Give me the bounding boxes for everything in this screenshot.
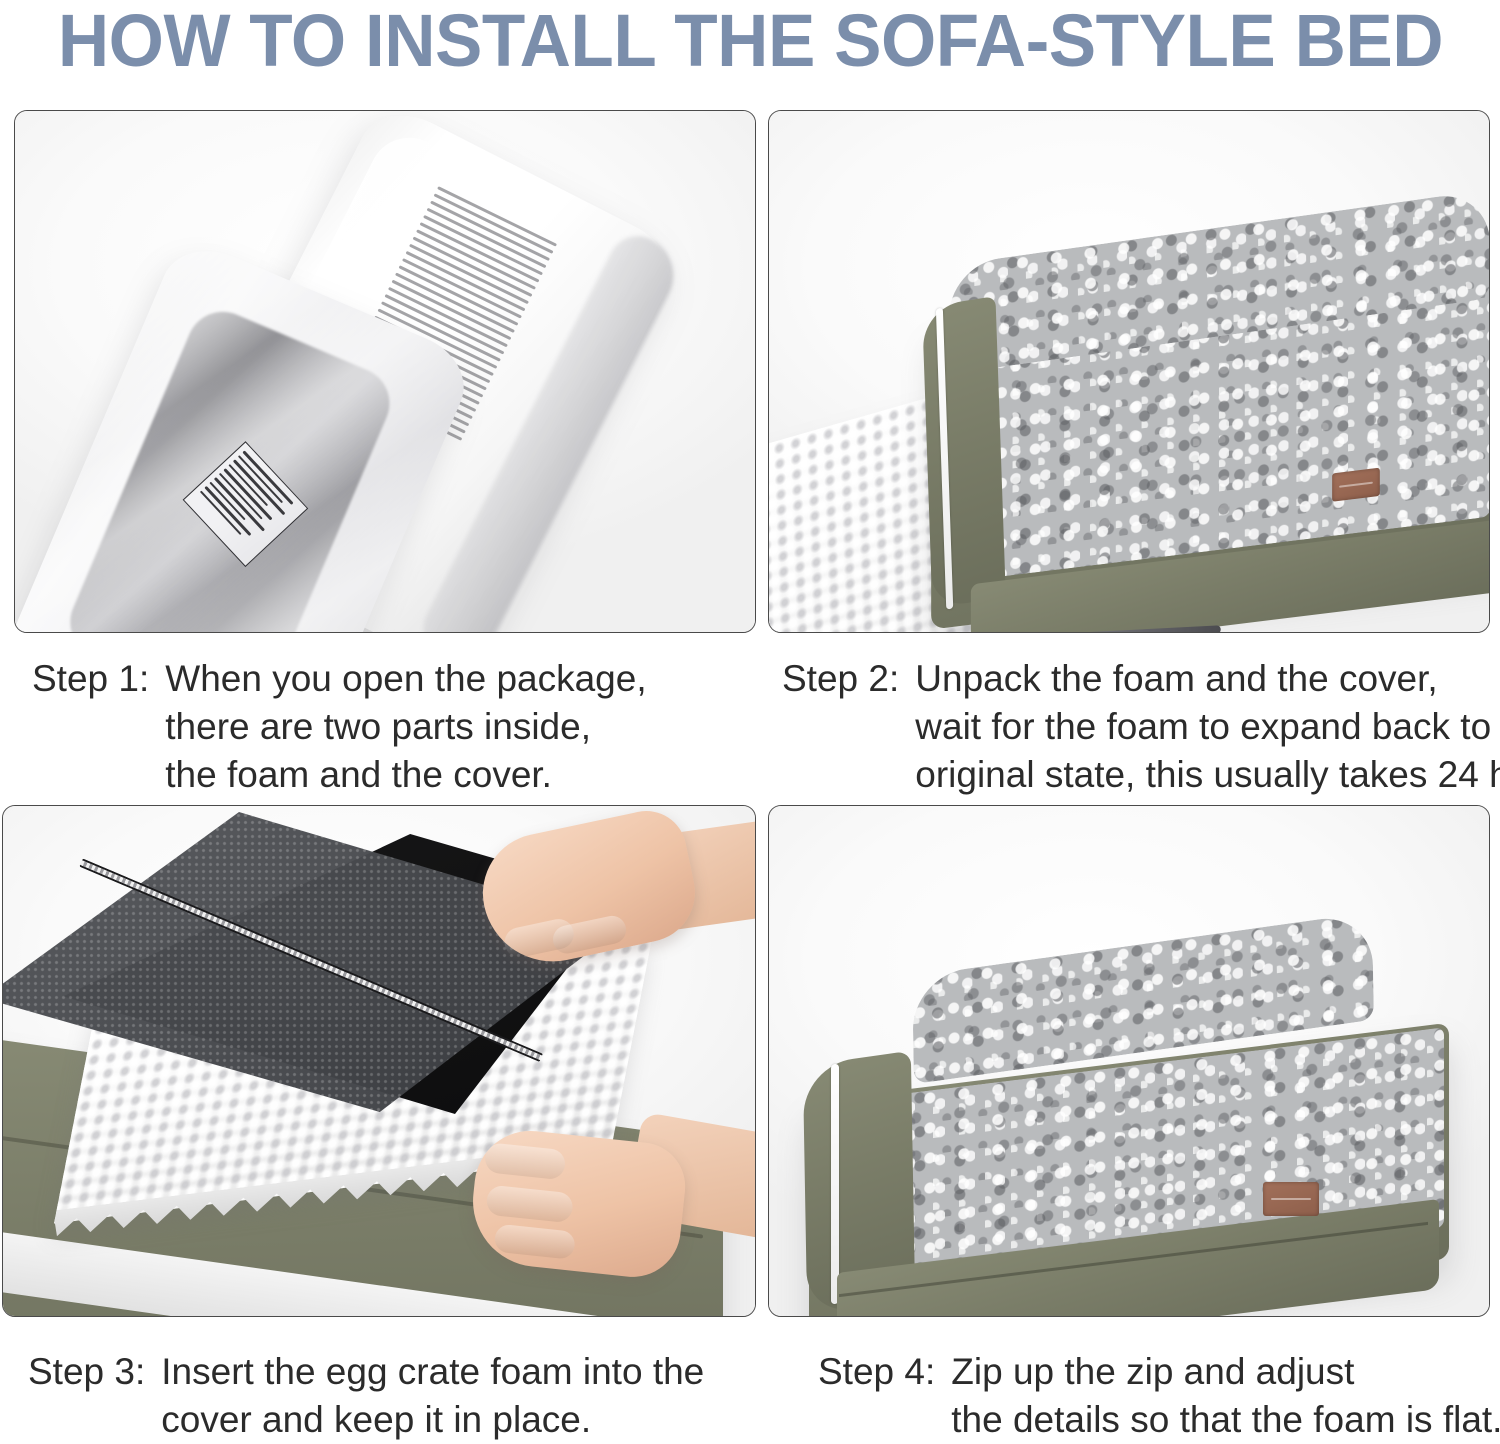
step-3-text: Insert the egg crate foam into the cover… [161, 1348, 704, 1444]
brand-leather-tag [1332, 468, 1380, 502]
page-title: HOW TO INSTALL THE SOFA-STYLE BED [57, 0, 1442, 83]
page-header: HOW TO INSTALL THE SOFA-STYLE BED [0, 0, 1500, 88]
step-2-line-3: original state, this usually takes 24 ho… [915, 751, 1500, 799]
step-2-line-2: wait for the foam to expand back to its [915, 703, 1500, 751]
step-3-image-panel [2, 805, 756, 1317]
cover-side-bolster [922, 296, 1006, 608]
step-1-caption: Step 1: When you open the package, there… [32, 655, 647, 799]
step-3-line-2: cover and keep it in place. [161, 1396, 704, 1444]
step-3-caption: Step 3: Insert the egg crate foam into t… [28, 1348, 704, 1444]
step-2-text: Unpack the foam and the cover, wait for … [915, 655, 1500, 799]
finger [494, 1224, 576, 1260]
step-4-image-panel [768, 805, 1490, 1317]
step-4-label: Step 4: [818, 1348, 935, 1444]
step-1-line-1: When you open the package, [165, 655, 646, 703]
step-1-label: Step 1: [32, 655, 149, 799]
white-piping-side [831, 1064, 839, 1305]
step-1-text: When you open the package, there are two… [165, 655, 646, 799]
step-2-label: Step 2: [782, 655, 899, 799]
step-4-line-1: Zip up the zip and adjust [951, 1348, 1500, 1396]
step-1-image-panel [14, 110, 756, 633]
step-2-line-1: Unpack the foam and the cover, [915, 655, 1500, 703]
photo-vacuum-sealed-rolls [15, 111, 755, 632]
photo-inserting-foam [3, 806, 755, 1316]
step-1-line-3: the foam and the cover. [165, 751, 646, 799]
olive-cover-shell [931, 186, 1489, 632]
finger [485, 1185, 574, 1224]
step-4-caption: Step 4: Zip up the zip and adjust the de… [818, 1348, 1500, 1444]
step-4-text: Zip up the zip and adjust the details so… [951, 1348, 1500, 1444]
step-2-image-panel [768, 110, 1490, 633]
step-2-caption: Step 2: Unpack the foam and the cover, w… [782, 655, 1500, 799]
assembled-sofa-bed [809, 936, 1449, 1316]
step-4-line-2: the details so that the foam is flat. [951, 1396, 1500, 1444]
brand-leather-tag [1263, 1182, 1319, 1216]
finger [484, 1142, 567, 1180]
photo-finished-bed [769, 806, 1489, 1316]
step-1-line-2: there are two parts inside, [165, 703, 646, 751]
step-3-line-1: Insert the egg crate foam into the [161, 1348, 704, 1396]
step-3-label: Step 3: [28, 1348, 145, 1444]
photo-foam-and-cover [769, 111, 1489, 632]
